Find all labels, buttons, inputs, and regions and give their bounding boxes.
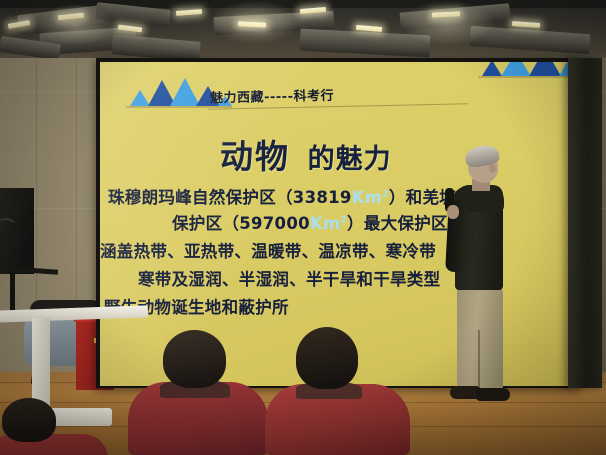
audience-member-head <box>163 330 226 388</box>
light-glow <box>210 0 300 44</box>
light-glow <box>36 4 116 46</box>
presenter-ear <box>489 164 496 173</box>
lecture-hall-scene: 魅力西藏-----科考行 动物 的魅力 珠穆朗玛峰自然保护区（33819Km2）… <box>0 0 606 455</box>
ceiling-light <box>512 21 540 28</box>
ceiling <box>0 0 606 66</box>
presenter-hand <box>447 205 459 219</box>
presenter-leg-split <box>478 330 480 392</box>
ceiling-light <box>176 9 202 16</box>
room-pillar <box>568 58 602 388</box>
audience-member-head <box>2 398 56 442</box>
speaker-stand <box>10 272 15 312</box>
light-glow <box>400 0 496 46</box>
audience-member-head <box>296 327 358 389</box>
presenter-shoe <box>476 388 510 401</box>
presenter-legs <box>457 285 503 393</box>
